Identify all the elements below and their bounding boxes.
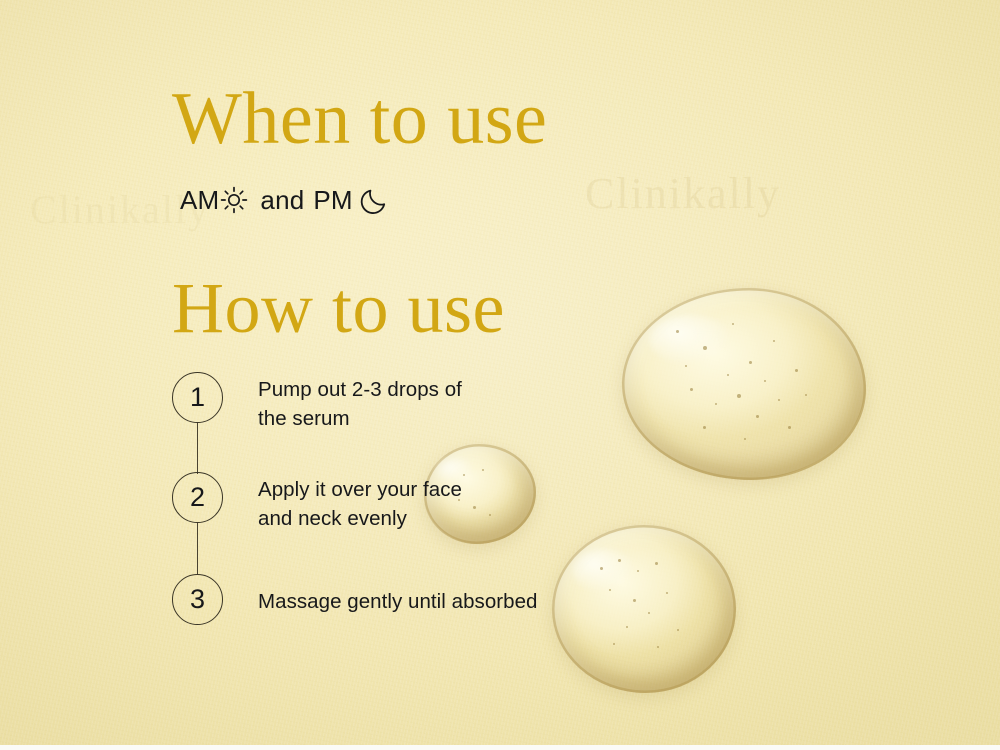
- sun-icon: [219, 185, 249, 215]
- pm-label: PM: [313, 187, 352, 213]
- step-item-2: 2 Apply it over your face and neck evenl…: [172, 472, 462, 533]
- step-text-2: Apply it over your face and neck evenly: [258, 472, 462, 533]
- step-number-2: 2: [172, 472, 223, 523]
- am-pm-row: AM and PM: [180, 183, 390, 217]
- step-number-1: 1: [172, 372, 223, 423]
- droplet-large: [622, 288, 866, 480]
- watermark-right: Clinikally: [585, 168, 781, 219]
- step-item-3: 3 Massage gently until absorbed: [172, 574, 538, 625]
- infographic-canvas: Clinikally Clinikally: [0, 0, 1000, 750]
- step-text-3: Massage gently until absorbed: [258, 574, 538, 616]
- droplet-bubbles: [622, 288, 866, 480]
- am-label: AM: [180, 187, 219, 213]
- step-text-1: Pump out 2-3 drops of the serum: [258, 372, 462, 433]
- moon-icon: [360, 185, 390, 215]
- droplet-bottom: [552, 525, 736, 693]
- bottom-edge-strip: [0, 745, 1000, 750]
- step-number-3: 3: [172, 574, 223, 625]
- how-to-use-heading: How to use: [172, 272, 505, 344]
- step-connector-line: [197, 422, 198, 474]
- step-item-1: 1 Pump out 2-3 drops of the serum: [172, 372, 462, 433]
- droplet-bubbles: [552, 525, 736, 693]
- step-connector-line: [197, 523, 198, 575]
- when-to-use-heading: When to use: [172, 82, 547, 156]
- and-label: and: [260, 187, 304, 213]
